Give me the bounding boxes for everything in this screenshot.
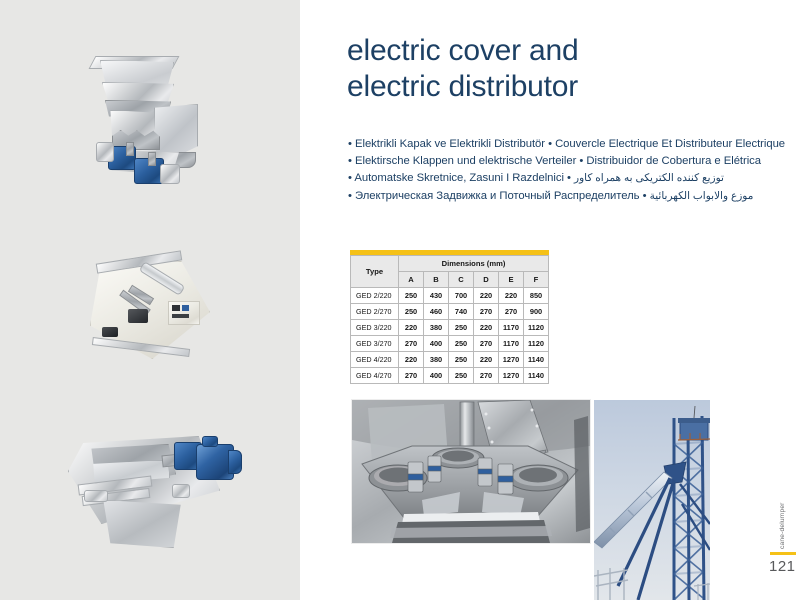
rotary-interior-illustration bbox=[352, 400, 590, 543]
cell-e: 220 bbox=[499, 288, 524, 304]
cell-a: 270 bbox=[399, 336, 424, 352]
cell-b: 400 bbox=[424, 368, 449, 384]
cell-d: 220 bbox=[474, 320, 499, 336]
cell-e: 1170 bbox=[499, 336, 524, 352]
left-photo-panel bbox=[0, 0, 300, 600]
cell-f: 900 bbox=[524, 304, 549, 320]
cell-e: 270 bbox=[499, 304, 524, 320]
page-title-line-2: electric distributor bbox=[347, 69, 787, 105]
translation-line-turkish-french: • Elektrikli Kapak ve Elektrikli Distrib… bbox=[348, 136, 800, 153]
dimensions-table-body: GED 2/220 250 430 700 220 220 850 GED 2/… bbox=[351, 288, 549, 384]
table-header-row-1: Type Dimensions (mm) bbox=[351, 256, 549, 272]
page-title: electric cover and electric distributor bbox=[347, 33, 787, 105]
table-row: GED 2/270 250 460 740 270 270 900 bbox=[351, 304, 549, 320]
page-number-rule bbox=[770, 552, 796, 555]
cell-type: GED 4/270 bbox=[351, 368, 399, 384]
table-row: GED 4/270 270 400 250 270 1270 1140 bbox=[351, 368, 549, 384]
table-row: GED 3/270 270 400 250 270 1170 1120 bbox=[351, 336, 549, 352]
header-col-a: A bbox=[399, 272, 424, 288]
table-row: GED 4/220 220 380 250 220 1270 1140 bbox=[351, 352, 549, 368]
cell-e: 1270 bbox=[499, 368, 524, 384]
cell-b: 380 bbox=[424, 352, 449, 368]
cell-type: GED 2/270 bbox=[351, 304, 399, 320]
cell-c: 250 bbox=[449, 368, 474, 384]
cell-f: 1120 bbox=[524, 336, 549, 352]
cell-d: 270 bbox=[474, 304, 499, 320]
cell-e: 1170 bbox=[499, 320, 524, 336]
cell-b: 400 bbox=[424, 336, 449, 352]
dimensions-table-wrapper: Type Dimensions (mm) A B C D E F GED 2/2… bbox=[350, 250, 549, 384]
header-type: Type bbox=[351, 256, 399, 288]
cell-f: 1140 bbox=[524, 368, 549, 384]
cell-c: 250 bbox=[449, 352, 474, 368]
cell-f: 850 bbox=[524, 288, 549, 304]
cell-c: 740 bbox=[449, 304, 474, 320]
header-dimensions: Dimensions (mm) bbox=[399, 256, 549, 272]
cell-b: 460 bbox=[424, 304, 449, 320]
page-title-line-1: electric cover and bbox=[347, 33, 787, 69]
translation-line-arabic: موزع والابواب الكهربائية bbox=[650, 190, 754, 202]
cell-a: 220 bbox=[399, 352, 424, 368]
translation-line-russian: • Электрическая Задвижка и Поточный Расп… bbox=[348, 190, 647, 202]
cell-d: 220 bbox=[474, 288, 499, 304]
header-col-d: D bbox=[474, 272, 499, 288]
cell-b: 430 bbox=[424, 288, 449, 304]
translation-list: • Elektrikli Kapak ve Elektrikli Distrib… bbox=[348, 136, 800, 205]
cell-d: 220 bbox=[474, 352, 499, 368]
photo-slide-gate-motor bbox=[56, 418, 246, 563]
photo-elevator-tower bbox=[594, 400, 710, 600]
page-number: 121 bbox=[769, 558, 799, 575]
translation-line-german-portuguese: • Elektirsche Klappen und elektrische Ve… bbox=[348, 153, 800, 170]
tower-illustration bbox=[594, 400, 710, 600]
cell-f: 1140 bbox=[524, 352, 549, 368]
photo-electric-cover-actuator bbox=[72, 243, 240, 393]
cell-type: GED 3/220 bbox=[351, 320, 399, 336]
cell-c: 250 bbox=[449, 320, 474, 336]
dimensions-table: Type Dimensions (mm) A B C D E F GED 2/2… bbox=[350, 255, 549, 384]
cell-a: 220 bbox=[399, 320, 424, 336]
header-col-e: E bbox=[499, 272, 524, 288]
cell-type: GED 2/220 bbox=[351, 288, 399, 304]
cell-c: 700 bbox=[449, 288, 474, 304]
photo-distributor-hopper bbox=[62, 42, 242, 222]
cell-f: 1120 bbox=[524, 320, 549, 336]
photo-rotary-distributor-interior bbox=[352, 400, 590, 543]
header-col-c: C bbox=[449, 272, 474, 288]
cell-d: 270 bbox=[474, 336, 499, 352]
translation-line-serbian: • Automatske Skretnice, Zasuni I Razdeln… bbox=[348, 172, 571, 184]
catalog-page: electric cover and electric distributor … bbox=[0, 0, 800, 600]
table-row: GED 3/220 220 380 250 220 1170 1120 bbox=[351, 320, 549, 336]
cell-a: 250 bbox=[399, 304, 424, 320]
cell-type: GED 4/220 bbox=[351, 352, 399, 368]
table-row: GED 2/220 250 430 700 220 220 850 bbox=[351, 288, 549, 304]
translation-line-persian: توزیع کننده الکتریکی به همراه کاور bbox=[574, 172, 724, 184]
cell-type: GED 3/270 bbox=[351, 336, 399, 352]
cell-e: 1270 bbox=[499, 352, 524, 368]
cell-a: 250 bbox=[399, 288, 424, 304]
side-brand-text: cane-delumper bbox=[779, 487, 793, 549]
cell-a: 270 bbox=[399, 368, 424, 384]
header-col-b: B bbox=[424, 272, 449, 288]
cell-c: 250 bbox=[449, 336, 474, 352]
cell-b: 380 bbox=[424, 320, 449, 336]
translation-line-russian-arabic: • Электрическая Задвижка и Поточный Расп… bbox=[348, 188, 800, 205]
cell-d: 270 bbox=[474, 368, 499, 384]
translation-line-serbian-persian: • Automatske Skretnice, Zasuni I Razdeln… bbox=[348, 170, 800, 187]
header-col-f: F bbox=[524, 272, 549, 288]
